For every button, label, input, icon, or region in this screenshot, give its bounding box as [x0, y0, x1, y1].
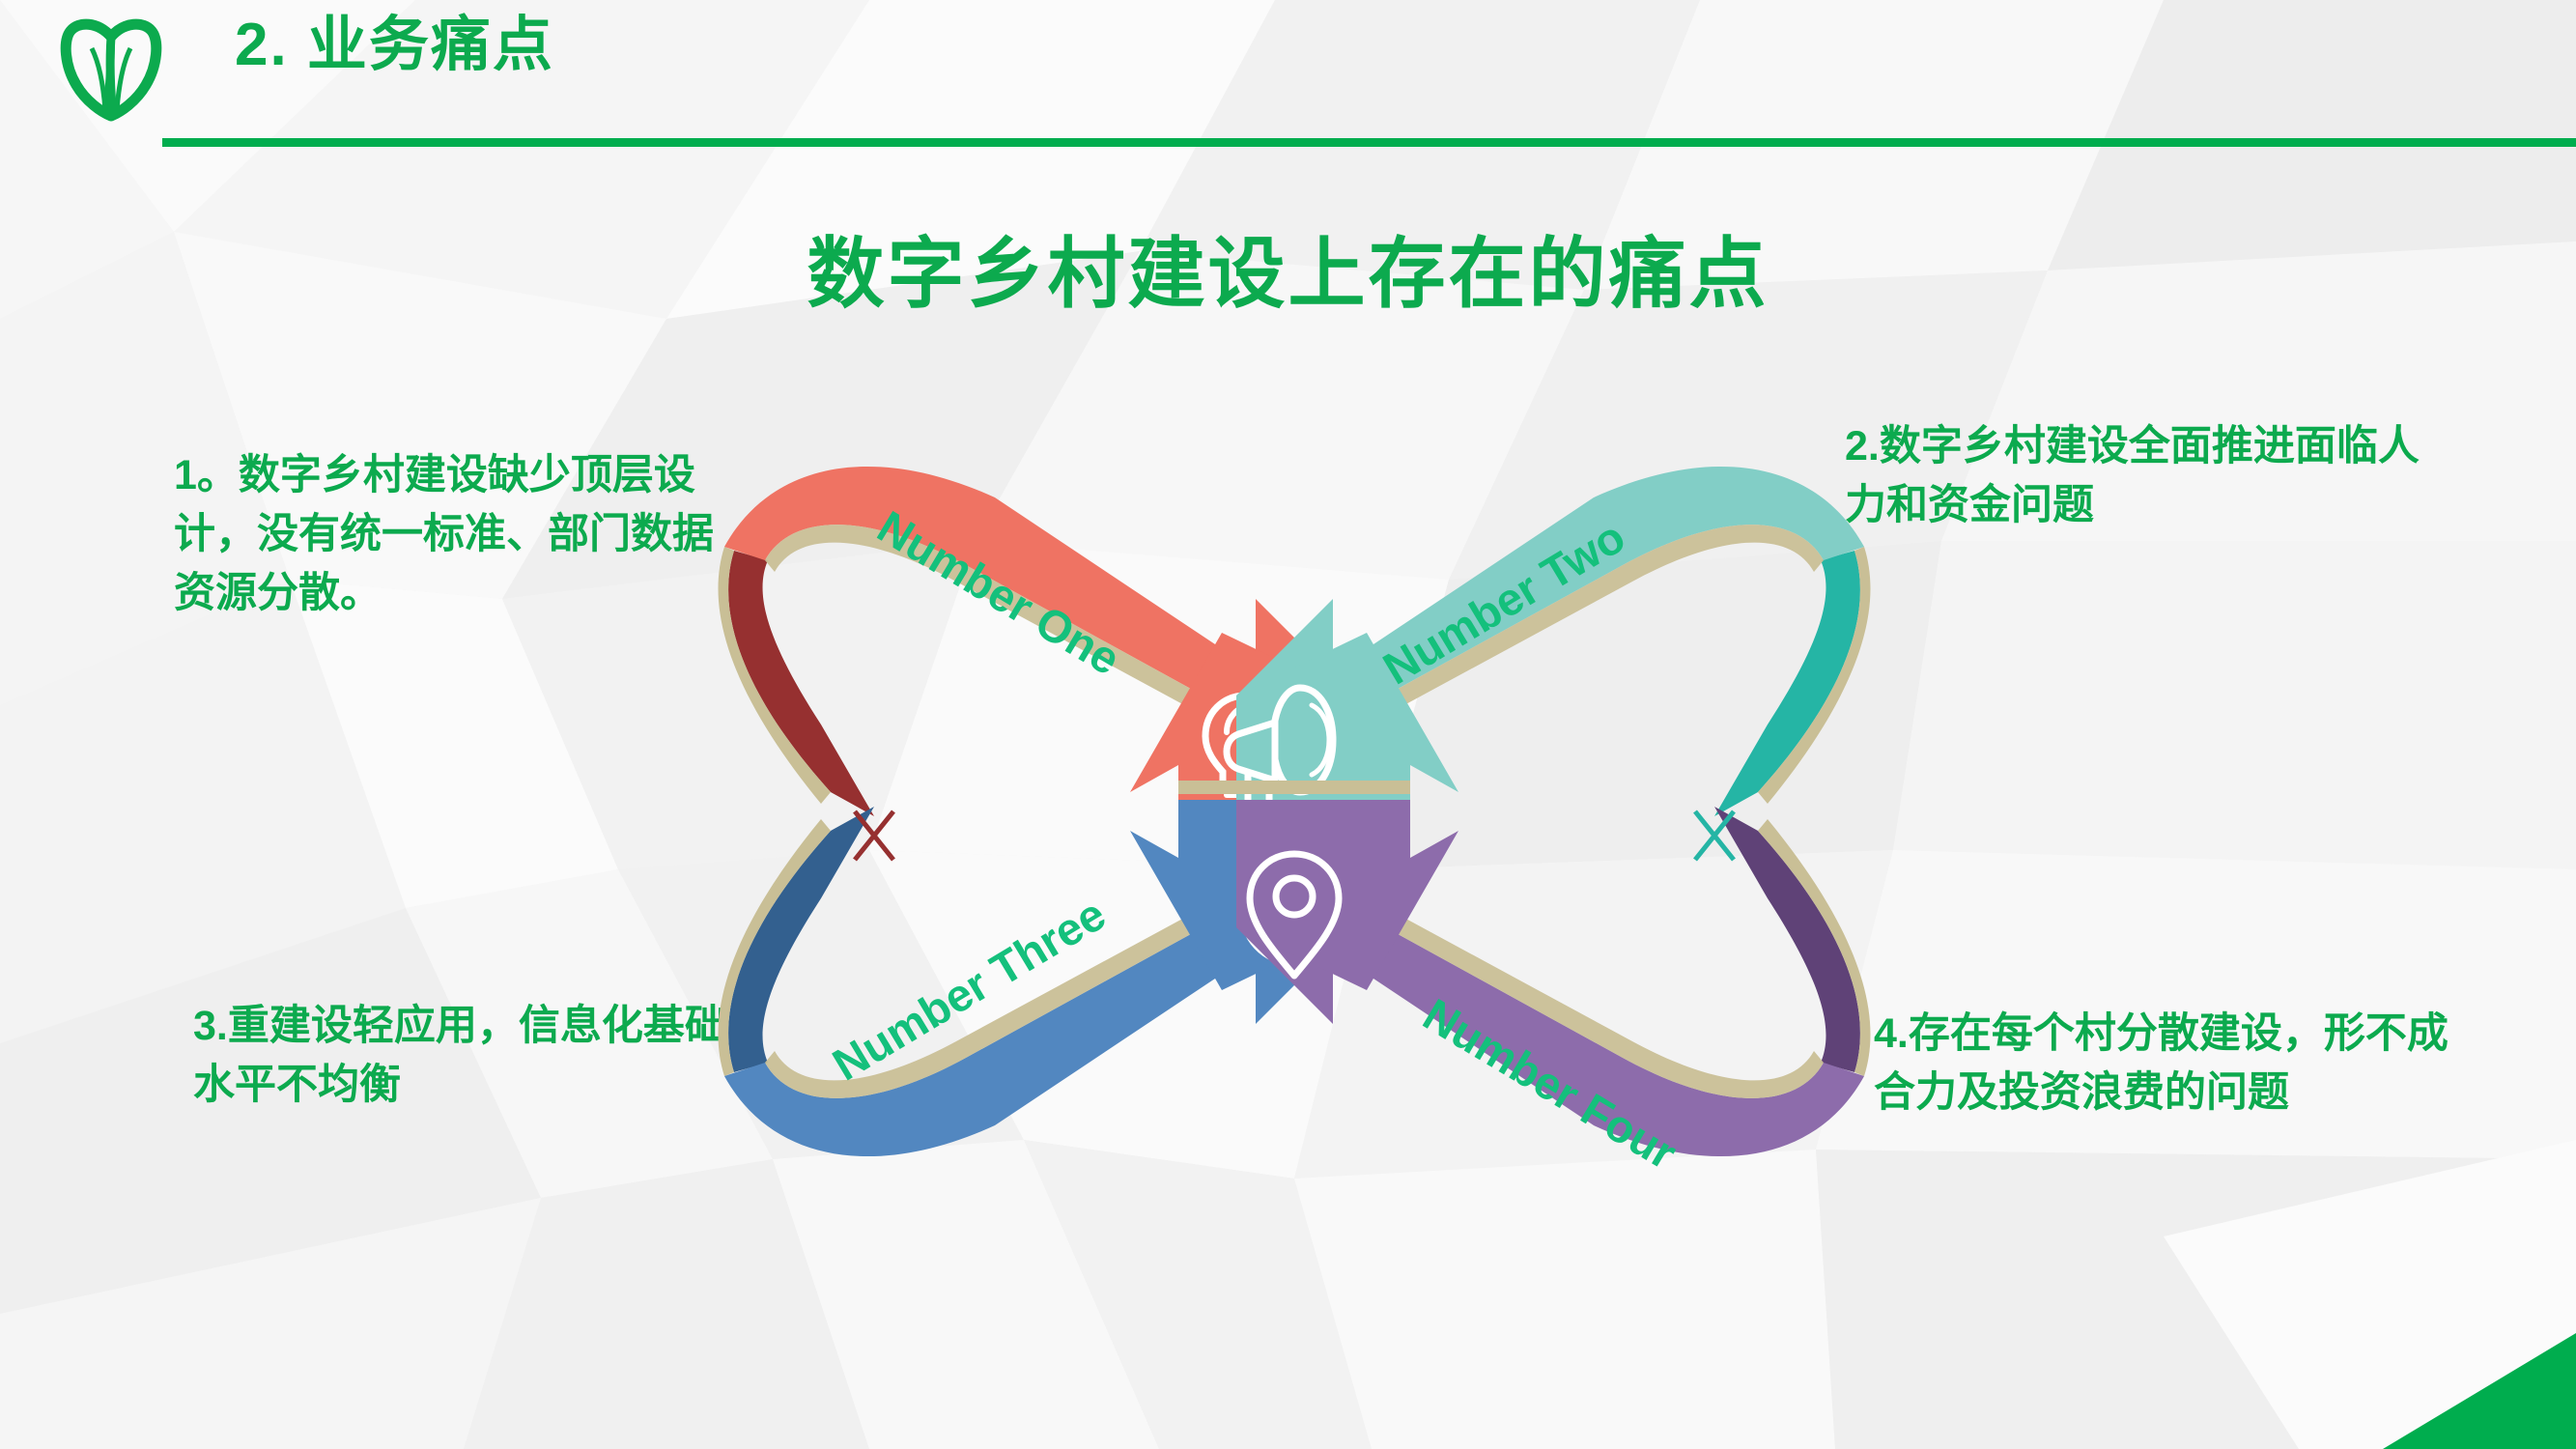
- pain-point-text-1: 1。数字乡村建设缺少顶层设计，没有统一标准、部门数据资源分散。: [174, 446, 724, 623]
- page-title: 2. 业务痛点: [235, 14, 554, 76]
- main-heading: 数字乡村建设上存在的痛点: [0, 232, 2576, 317]
- slide-canvas: 2. 业务痛点 数字乡村建设上存在的痛点 1。数字乡村建设缺少顶层设计，没有统一…: [0, 0, 2576, 1449]
- corner-accent-triangle: [2383, 1333, 2576, 1449]
- leaf-logo-icon: [53, 8, 169, 124]
- slide-header: 2. 业务痛点: [0, 0, 2576, 155]
- pinwheel-arm-4[interactable]: Number Four: [1236, 781, 1870, 1179]
- pain-point-text-4: 4.存在每个村分散建设，形不成合力及投资浪费的问题: [1874, 1005, 2463, 1122]
- pinwheel-diagram: Number One Number Two: [676, 406, 1912, 1217]
- pain-point-text-2: 2.数字乡村建设全面推进面临人力和资金问题: [1845, 417, 2444, 535]
- header-divider: [162, 138, 2576, 147]
- pain-point-text-3: 3.重建设轻应用，信息化基础水平不均衡: [193, 997, 734, 1115]
- ribbon-label-2: Number Two: [1374, 510, 1633, 694]
